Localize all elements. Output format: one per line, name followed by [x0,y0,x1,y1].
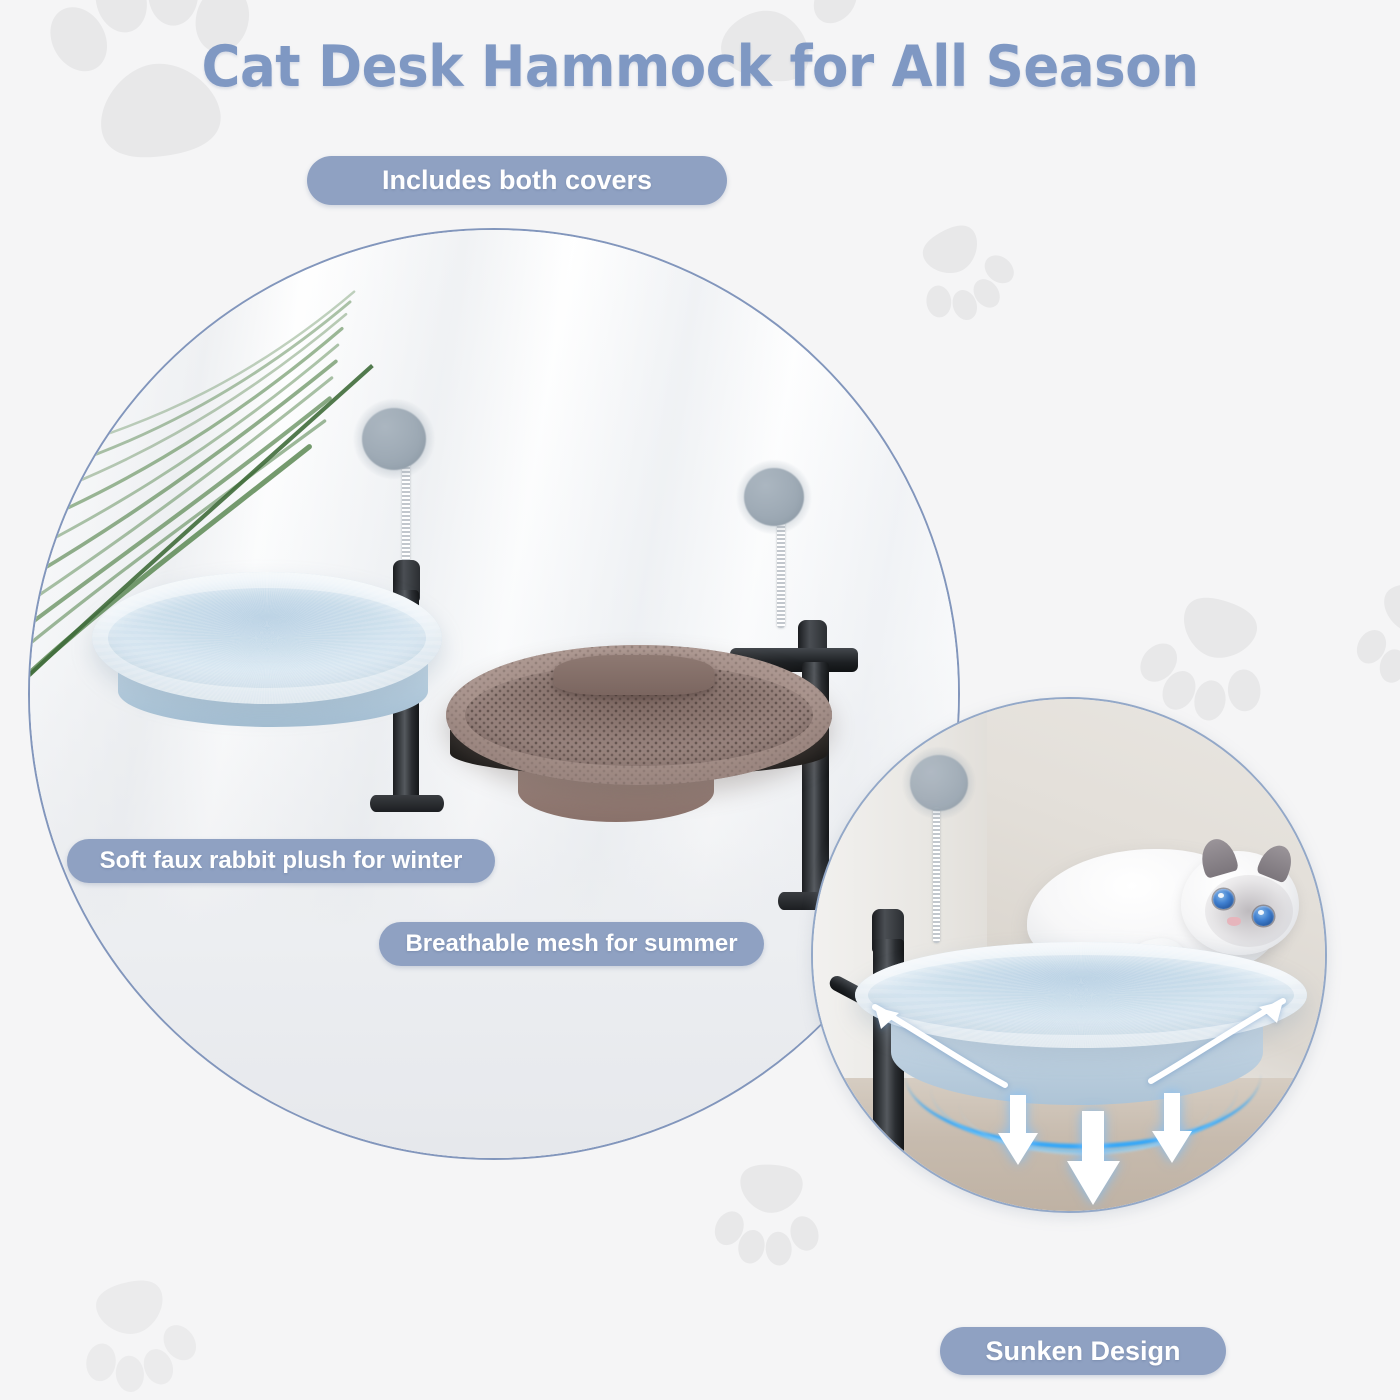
curved-arrow-left-icon [865,999,1015,1095]
cat-face-mask [1205,875,1293,947]
spring-coil [933,807,940,943]
down-arrow-right-icon [1149,1093,1195,1165]
cat-nose [1227,917,1241,926]
post-foot [370,795,444,812]
pom-pom-toy [744,468,804,526]
inset-photo-content [813,699,1325,1211]
badge-mesh-summer[interactable]: Breathable mesh for summer [379,922,764,966]
plush-hammock-rim [92,572,442,704]
down-arrow-center-icon [1063,1111,1123,1207]
sunken-design-photo [811,697,1327,1213]
pom-pom-toy [910,755,968,811]
mesh-hammock [446,645,832,785]
badge-sunken-design[interactable]: Sunken Design [940,1327,1226,1375]
infographic-canvas: Cat Desk Hammock for All Season [0,0,1400,1400]
paw-print-icon [50,1240,220,1400]
cat-eye-right [1253,906,1274,926]
mesh-hammock-pillow [554,655,714,695]
page-title: Cat Desk Hammock for All Season [49,34,1351,100]
badge-plush-winter[interactable]: Soft faux rabbit plush for winter [67,839,495,883]
badge-includes-both-covers[interactable]: Includes both covers [307,156,727,205]
down-arrow-left-icon [995,1095,1041,1167]
paw-print-icon [1342,554,1400,697]
pom-pom-toy [362,408,426,470]
plush-hammock [92,572,442,704]
cat-eye-left [1213,889,1234,909]
curved-arrow-right-icon [1143,995,1293,1091]
